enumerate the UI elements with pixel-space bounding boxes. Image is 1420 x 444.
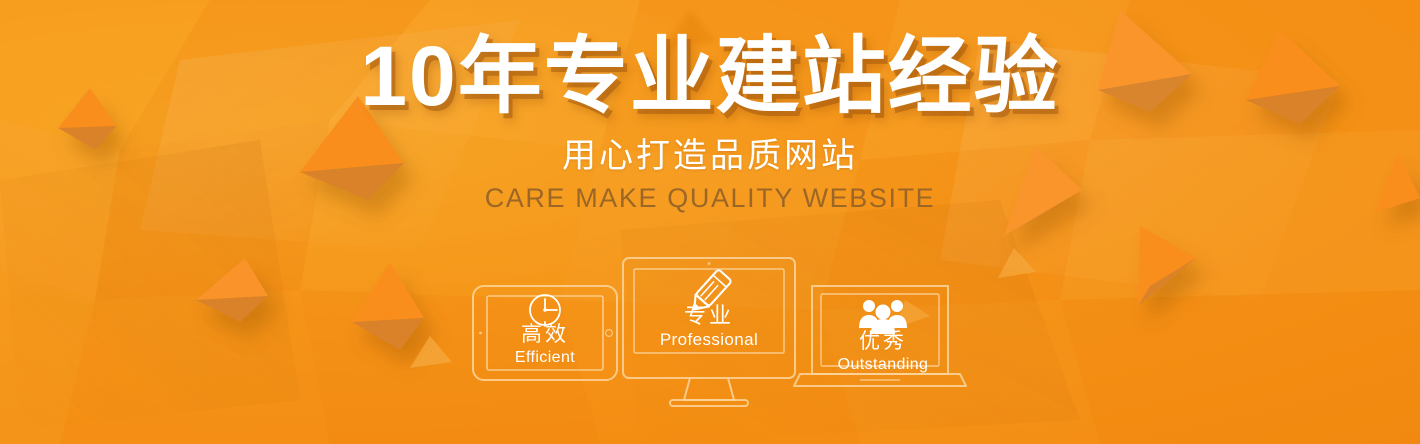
tagline: CARE MAKE QUALITY WEBSITE <box>485 184 936 214</box>
monitor-base <box>670 400 748 406</box>
tablet-home-button <box>606 330 613 337</box>
promo-banner: 10年专业建站经验 用心打造品质网站 CARE MAKE QUALITY WEB… <box>0 0 1420 444</box>
feature-card-efficient[interactable]: 高效 Efficient <box>473 286 617 380</box>
page-title: 10年专业建站经验 <box>360 34 1059 118</box>
people-group-icon <box>859 300 907 334</box>
tablet-camera-icon <box>479 332 482 335</box>
monitor-stand <box>684 378 734 400</box>
feature-devices: 高效 Efficient 专业 <box>0 248 1420 418</box>
feature-title-en-outstanding: Outstanding <box>838 356 929 373</box>
clock-icon <box>530 295 560 326</box>
feature-title-cn-outstanding: 优秀 <box>859 330 907 353</box>
feature-title-en-professional: Professional <box>660 330 758 349</box>
feature-card-professional[interactable]: 专业 Professional <box>623 258 795 406</box>
subtitle: 用心打造品质网站 <box>562 138 858 175</box>
feature-title-cn-efficient: 高效 <box>521 323 569 346</box>
feature-title-cn-professional: 专业 <box>684 303 734 328</box>
feature-card-outstanding[interactable]: 优秀 Outstanding <box>794 286 966 386</box>
feature-title-en-efficient: Efficient <box>515 349 575 366</box>
monitor-camera-icon <box>708 262 711 265</box>
